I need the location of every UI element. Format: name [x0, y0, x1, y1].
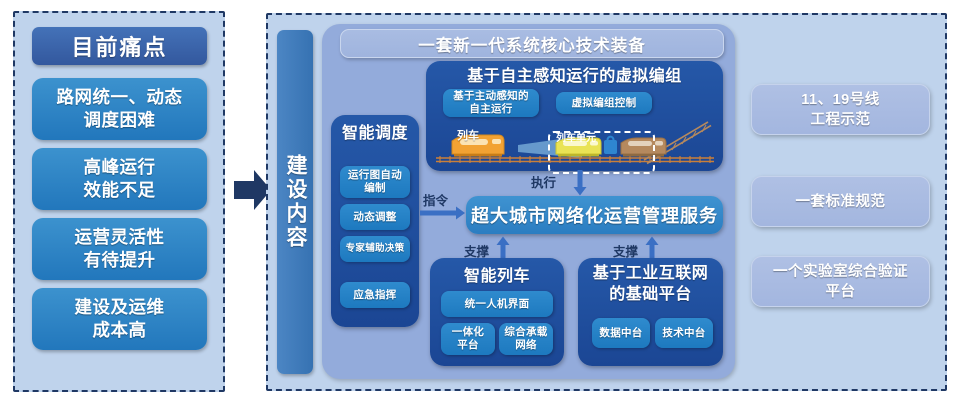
pain-point-label-2: 运营灵活性有待提升: [75, 226, 165, 272]
pain-point-item-1[interactable]: 高峰运行效能不足: [32, 148, 207, 210]
pain-point-label-1: 高峰运行效能不足: [84, 156, 156, 202]
pain-point-label-3: 建设及运维成本高: [75, 296, 165, 342]
pain-point-item-2[interactable]: 运营灵活性有待提升: [32, 218, 207, 280]
chip-active-sensing-label: 基于主动感知的自主运行: [453, 90, 529, 116]
dispatch-item-0[interactable]: 运行图自动编制: [340, 166, 410, 198]
dispatch-item-3[interactable]: 应急指挥: [340, 282, 410, 308]
smart-train-item-1[interactable]: 综合承载网络: [499, 323, 553, 355]
execute-flow-text: 执行: [531, 176, 556, 190]
construction-content-label: 建设内容: [281, 154, 309, 250]
smart-dispatch-title-label: 智能调度: [342, 119, 408, 143]
outcome-card-label-1: 一套标准规范: [796, 192, 886, 212]
smart-dispatch-title: 智能调度: [331, 120, 419, 142]
pain-point-item-0[interactable]: 路网统一、动态调度困难: [32, 78, 207, 140]
outcome-card-2[interactable]: 一个实验室综合验证平台: [751, 256, 930, 307]
outcome-card-0[interactable]: 11、19号线工程示范: [751, 84, 930, 135]
industrial-platform-item-0[interactable]: 数据中台: [592, 318, 650, 348]
chip-virtual-formation-control[interactable]: 虚拟编组控制: [556, 92, 652, 114]
smart-train-item-hmi[interactable]: 统一人机界面: [441, 291, 553, 317]
dispatch-item-label-0: 运行图自动编制: [348, 169, 402, 195]
diagram-root: 目前痛点 路网统一、动态调度困难 高峰运行效能不足 运营灵活性有待提升 建设及运…: [0, 0, 960, 402]
city-operation-service-bar[interactable]: 超大城市网络化运营管理服务: [466, 196, 723, 234]
city-operation-service-label: 超大城市网络化运营管理服务: [471, 202, 718, 228]
dispatch-item-label-3: 应急指挥: [353, 289, 396, 302]
virtual-formation-title-label: 基于自主感知运行的虚拟编组: [467, 62, 682, 86]
industrial-platform-title: 基于工业互联网的基础平台: [578, 263, 723, 305]
support-right-text: 支撑: [613, 245, 638, 259]
dispatch-item-1[interactable]: 动态调整: [340, 204, 410, 230]
outcome-card-label-2: 一个实验室综合验证平台: [773, 262, 908, 302]
pain-points-header-label: 目前痛点: [71, 30, 167, 62]
industrial-platform-item-label-0: 数据中台: [599, 327, 642, 340]
pain-point-item-3[interactable]: 建设及运维成本高: [32, 288, 207, 350]
virtual-formation-title: 基于自主感知运行的虚拟编组: [426, 64, 723, 84]
support-left-text: 支撑: [464, 245, 489, 259]
dispatch-item-2[interactable]: 专家辅助决策: [340, 236, 410, 262]
train-label-text: 列车: [457, 130, 479, 142]
train-unit-label-text: 列车单元: [556, 133, 596, 144]
smart-train-item-0[interactable]: 一体化平台: [441, 323, 495, 355]
industrial-platform-title-label: 基于工业互联网的基础平台: [593, 263, 709, 305]
smart-train-item-label-1: 综合承载网络: [504, 326, 547, 352]
dispatch-item-label-1: 动态调整: [353, 211, 396, 224]
smart-train-title-label: 智能列车: [464, 262, 530, 286]
execute-flow-label: 执行: [531, 172, 556, 192]
execute-arrow-icon: [573, 170, 587, 196]
train-label: 列车: [457, 126, 479, 144]
dispatch-item-label-2: 专家辅助决策: [346, 243, 405, 255]
train-unit-label: 列车单元: [556, 128, 596, 146]
pain-points-header: 目前痛点: [32, 27, 207, 65]
core-tech-banner-label: 一套新一代系统核心技术装备: [418, 32, 646, 56]
pain-point-label-0: 路网统一、动态调度困难: [57, 86, 183, 132]
smart-train-item-label-0: 一体化平台: [452, 326, 484, 352]
outcome-card-label-0: 11、19号线工程示范: [801, 90, 879, 130]
chip-active-sensing[interactable]: 基于主动感知的自主运行: [443, 89, 539, 117]
construction-content-bar: 建设内容: [277, 30, 313, 374]
smart-train-title: 智能列车: [430, 263, 564, 285]
smart-train-item-hmi-label: 统一人机界面: [465, 298, 530, 311]
outcome-card-1[interactable]: 一套标准规范: [751, 176, 930, 227]
industrial-platform-item-label-1: 技术中台: [662, 327, 705, 340]
industrial-platform-item-1[interactable]: 技术中台: [655, 318, 713, 348]
chip-virtual-formation-control-label: 虚拟编组控制: [572, 97, 637, 110]
core-tech-banner: 一套新一代系统核心技术装备: [340, 29, 724, 58]
command-arrow-icon: [420, 206, 466, 220]
